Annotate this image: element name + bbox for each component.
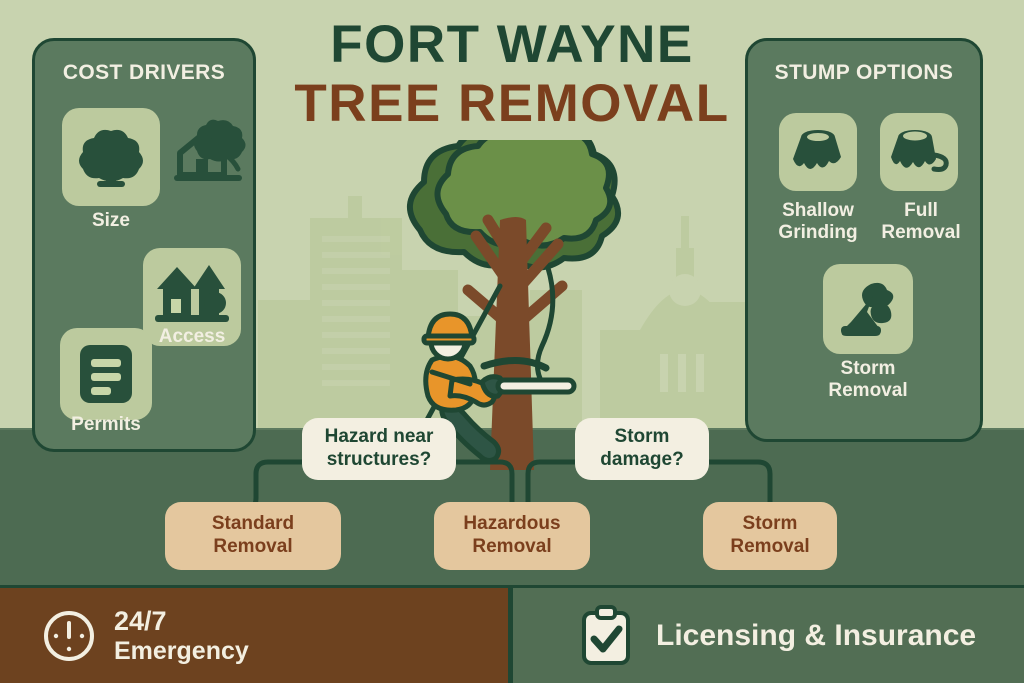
outcome-line-2: Removal: [730, 536, 809, 557]
outcome-line-1: Storm: [743, 513, 798, 534]
outcome-line-1: Hazardous: [463, 513, 560, 534]
outcome-text: Storm Removal: [730, 513, 809, 559]
clipboard-check-icon: [578, 605, 634, 667]
stump-full-removal-tile[interactable]: [880, 113, 958, 191]
outcome-line-1: Standard: [212, 513, 294, 534]
stump-storm-removal-label: Storm Removal: [812, 358, 924, 403]
title-line-2: TREE REMOVAL: [262, 77, 762, 130]
stump-options-heading: STUMP OPTIONS: [748, 61, 980, 85]
outcome-hazardous-removal[interactable]: Hazardous Removal: [434, 502, 590, 570]
clock-icon: [42, 609, 96, 663]
outcome-text: Standard Removal: [212, 513, 294, 559]
cost-drivers-heading: COST DRIVERS: [35, 61, 253, 85]
stump-shallow-grinding-tile[interactable]: [779, 113, 857, 191]
stump-storm-removal-tile[interactable]: [823, 264, 913, 354]
footer-separator: [508, 588, 513, 683]
stump-full-removal-label: Full Removal: [875, 200, 967, 245]
cost-driver-size-label: Size: [62, 210, 160, 232]
outcome-standard-removal[interactable]: Standard Removal: [165, 502, 341, 570]
emergency-text: 24/7 Emergency: [114, 606, 249, 664]
label-line-1: Storm: [841, 358, 896, 379]
stump-full-icon: [888, 125, 950, 179]
decision-text: Hazard near structures?: [325, 426, 434, 472]
stump-shallow-grinding-label: Shallow Grinding: [765, 200, 871, 245]
decision-line-1: Hazard near: [325, 426, 434, 447]
document-icon: [78, 343, 134, 405]
outcome-line-2: Removal: [213, 536, 292, 557]
licensing-text: Licensing & Insurance: [656, 619, 976, 653]
decision-storm-damage[interactable]: Storm damage?: [575, 418, 709, 480]
label-line-2: Grinding: [778, 222, 857, 243]
emergency-line-2: Emergency: [114, 637, 249, 665]
cost-driver-permits-tile[interactable]: [60, 328, 152, 420]
emergency-line-1: 24/7: [114, 606, 249, 636]
footer-emergency-banner[interactable]: 24/7 Emergency: [0, 588, 512, 683]
infographic-canvas: FORT WAYNE TREE REMOVAL COST DRIVERS Siz…: [0, 0, 1024, 683]
outcome-text: Hazardous Removal: [463, 513, 560, 559]
house-and-tree-icon: [155, 263, 229, 331]
label-line-2: Removal: [881, 222, 960, 243]
title-line-1: FORT WAYNE: [262, 18, 762, 71]
outcome-line-2: Removal: [472, 536, 551, 557]
cost-driver-size-tile[interactable]: [62, 108, 160, 206]
decision-line-2: damage?: [600, 449, 683, 470]
tree-icon: [79, 125, 143, 189]
footer-licensing-banner[interactable]: Licensing & Insurance: [512, 588, 1024, 683]
decision-text: Storm damage?: [600, 426, 683, 472]
cost-driver-access-label: Access: [140, 326, 244, 348]
label-line-1: Shallow: [782, 200, 854, 221]
house-with-tree-icon: [168, 112, 248, 192]
decision-line-2: structures?: [327, 449, 432, 470]
label-line-2: Removal: [828, 380, 907, 401]
label-line-1: Full: [904, 200, 938, 221]
outcome-storm-removal[interactable]: Storm Removal: [703, 502, 837, 570]
decision-line-1: Storm: [615, 426, 670, 447]
decision-hazard-near-structures[interactable]: Hazard near structures?: [302, 418, 456, 480]
cost-driver-permits-label: Permits: [48, 414, 164, 436]
stump-ground-icon: [789, 125, 847, 179]
fallen-tree-icon: [835, 278, 901, 340]
page-title: FORT WAYNE TREE REMOVAL: [262, 18, 762, 130]
